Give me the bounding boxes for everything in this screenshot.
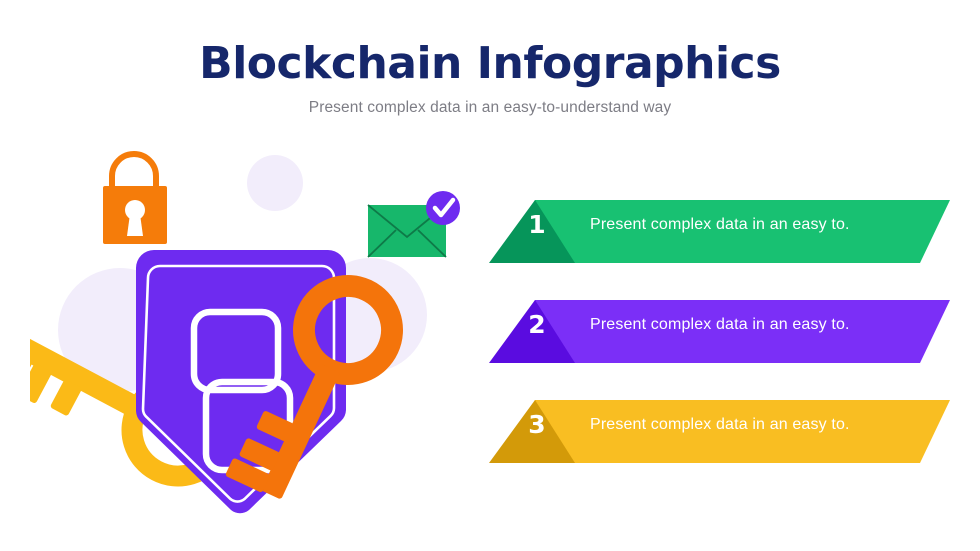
page-subtitle: Present complex data in an easy-to-under… [0,98,980,118]
bar-item-3[interactable]: 3 Present complex data in an easy to. [480,390,950,470]
bar-item-1[interactable]: 1 Present complex data in an easy to. [480,190,950,270]
bar-text-1: Present complex data in an easy to. [590,212,850,238]
slide-canvas: Blockchain Infographics Present complex … [0,0,980,551]
blockchain-security-illustration [30,130,480,530]
slide-header: Blockchain Infographics Present complex … [0,38,980,118]
padlock-icon [103,154,167,244]
bar-text-3: Present complex data in an easy to. [590,412,850,438]
bar-item-2[interactable]: 2 Present complex data in an easy to. [480,290,950,370]
bar-text-2: Present complex data in an easy to. [590,312,850,338]
bar-number-2: 2 [520,311,554,339]
bar-number-3: 3 [520,411,554,439]
check-badge-icon [426,191,460,225]
lavender-circle-small [247,155,303,211]
page-title: Blockchain Infographics [0,38,980,90]
bar-number-1: 1 [520,211,554,239]
steps-list: 1 Present complex data in an easy to. 2 … [480,190,960,480]
